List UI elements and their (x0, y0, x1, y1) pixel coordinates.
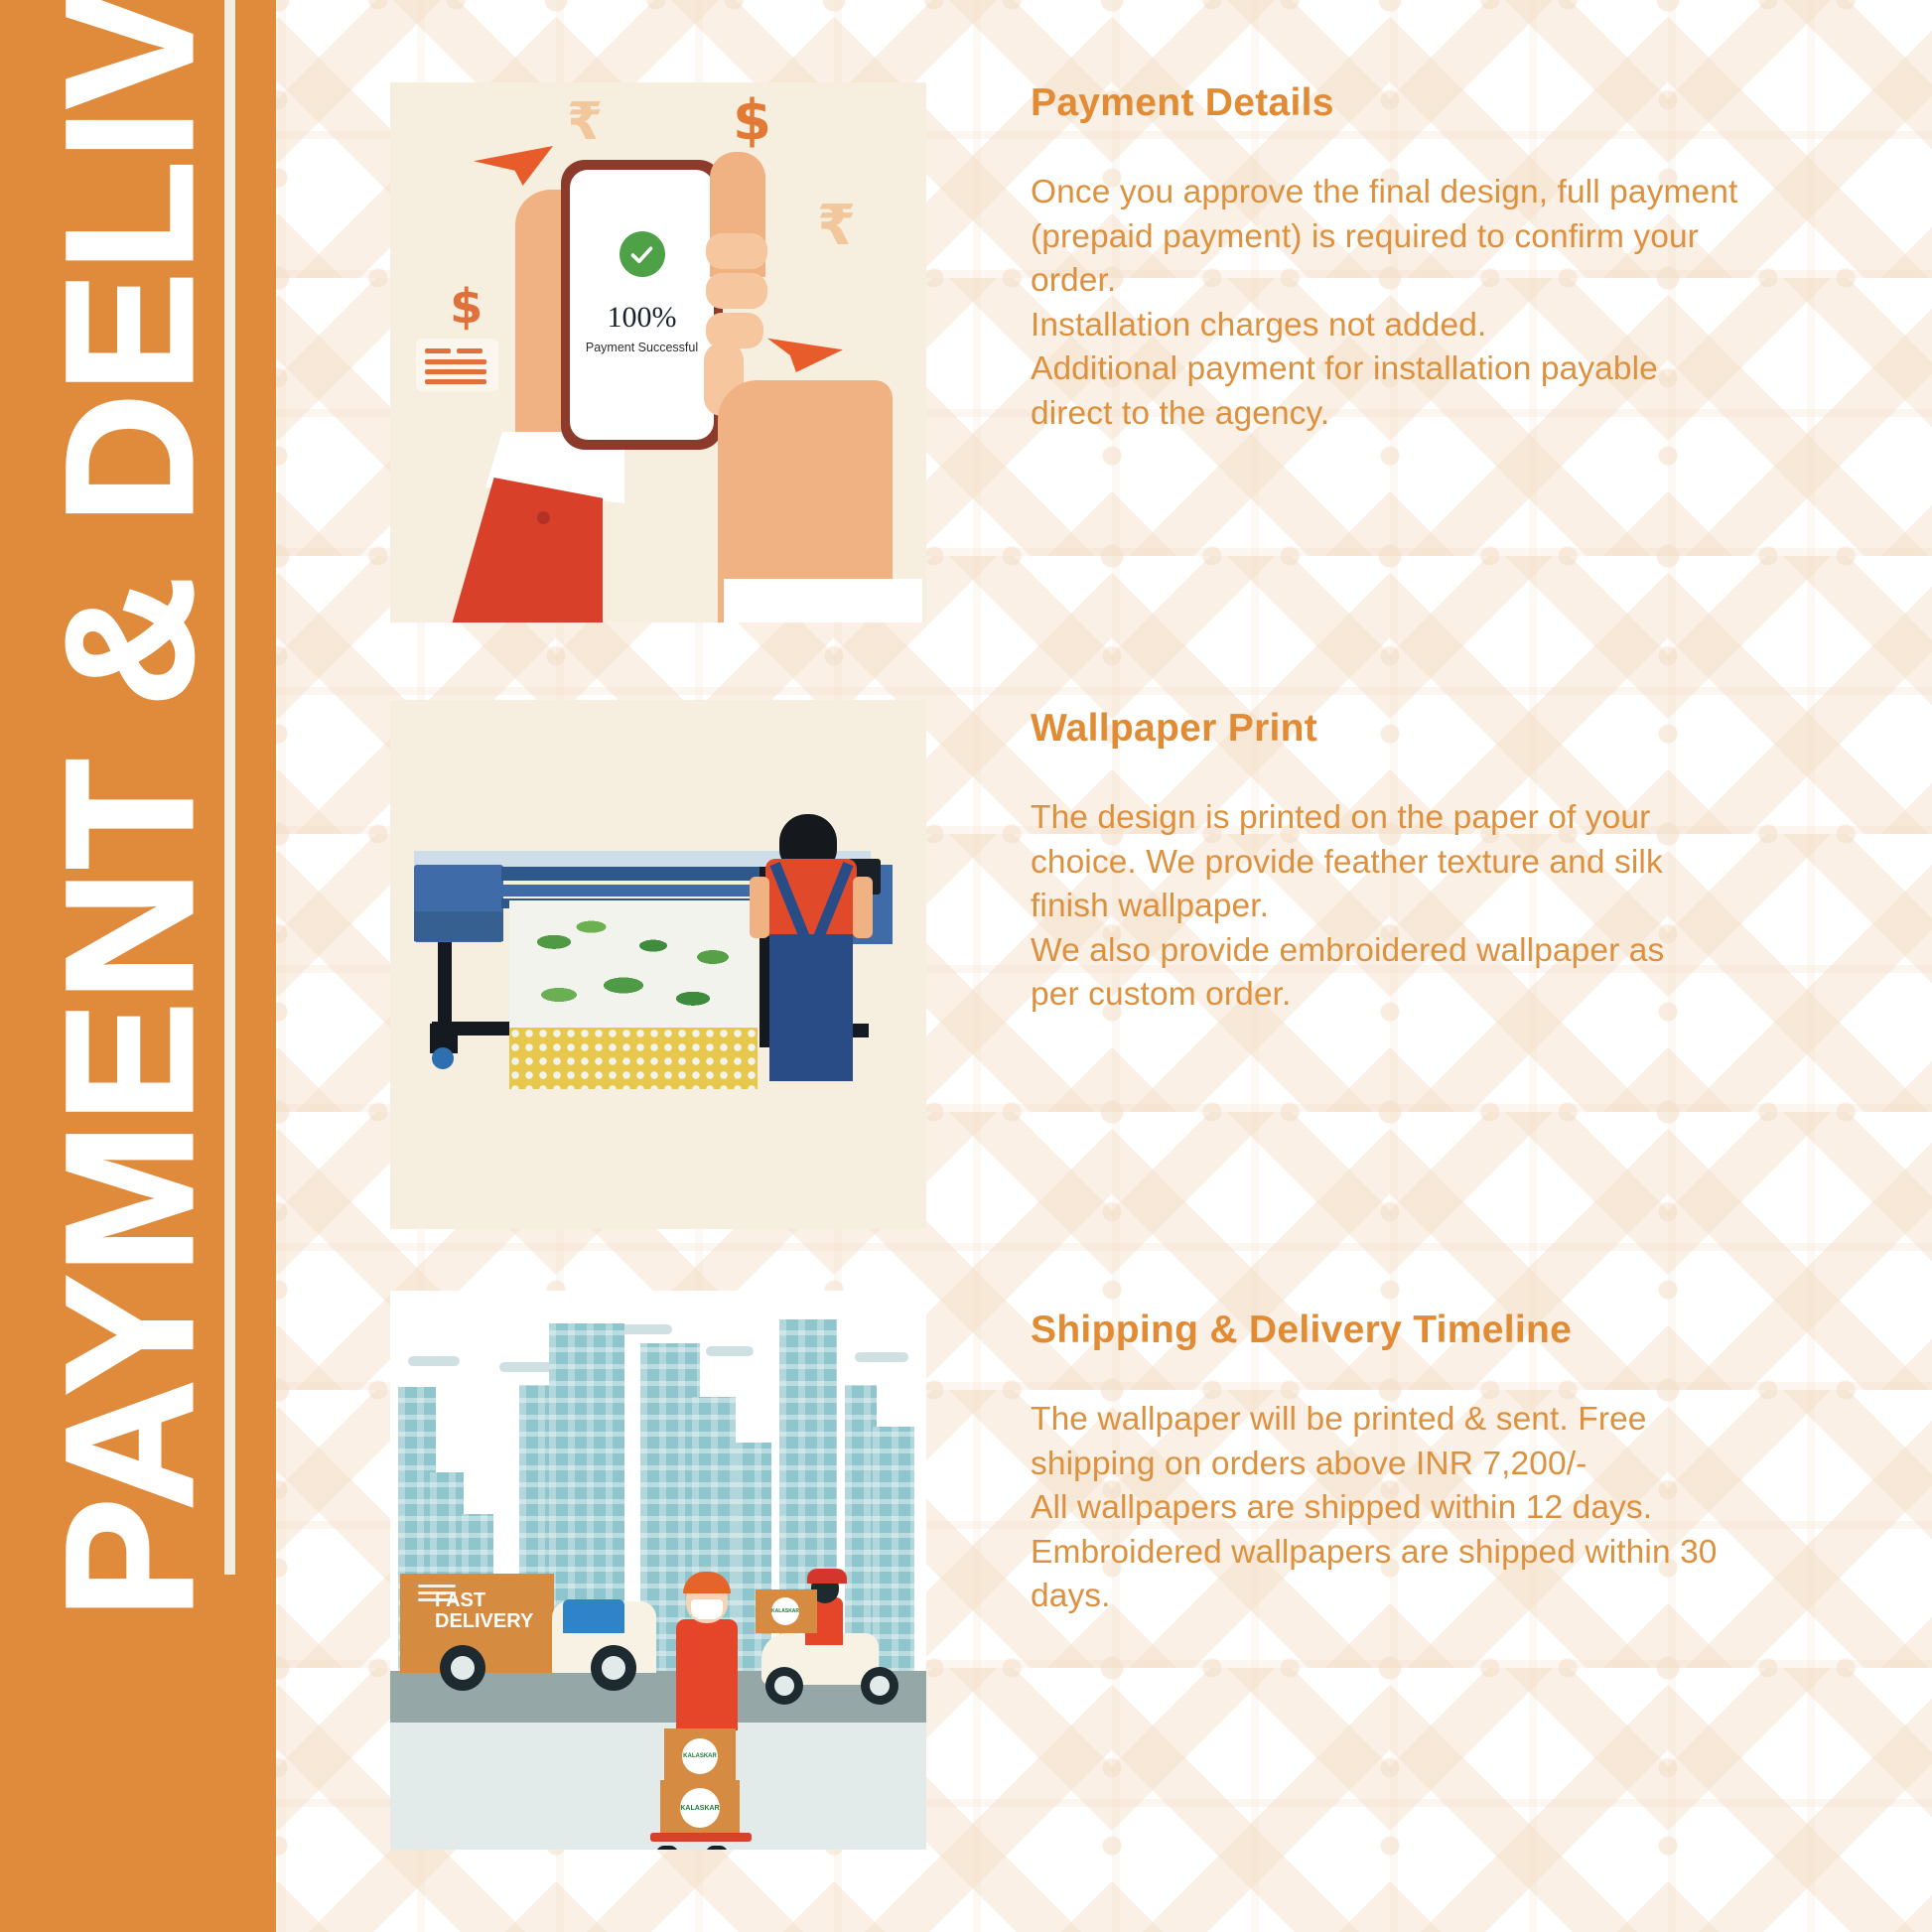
building (736, 1443, 771, 1673)
section-text-print: Wallpaper Print The design is printed on… (1031, 707, 1825, 1018)
illustration-card-delivery: FAST DELIVERY KALASKAR KALASKAR KALASKAR (390, 1291, 926, 1850)
sidebar-banner: PAYMENT & DELIVERY (0, 0, 276, 1932)
worker-right-arm (853, 877, 873, 938)
truck-label-line-1: FAST (435, 1590, 533, 1612)
body-line: direct to the agency. (1031, 392, 1825, 437)
body-line: Additional payment for installation paya… (1031, 347, 1825, 392)
porter-shoe (706, 1846, 728, 1850)
paper-plane-icon (767, 335, 843, 372)
body-line: days. (1031, 1575, 1825, 1619)
body-line: order. (1031, 259, 1825, 304)
payment-status-text: Payment Successful (586, 341, 698, 354)
brand-logo: KALASKAR (771, 1597, 799, 1625)
cuff-button (537, 511, 550, 524)
body-line: Once you approve the final design, full … (1031, 171, 1825, 215)
body-line: We also provide embroidered wallpaper as (1031, 929, 1825, 974)
scooter-rider-cap (807, 1569, 847, 1584)
section-body: The wallpaper will be printed & sent. Fr… (1031, 1398, 1825, 1619)
body-line: The wallpaper will be printed & sent. Fr… (1031, 1398, 1825, 1443)
building (873, 1427, 914, 1673)
scooter-wheel (765, 1667, 803, 1705)
paper-plane-icon (474, 146, 553, 186)
body-line: All wallpapers are shipped within 12 day… (1031, 1486, 1825, 1531)
porter-shoe (656, 1846, 678, 1850)
truck-window (563, 1599, 624, 1633)
page-title: PAYMENT & DELIVERY (30, 50, 228, 1678)
body-line: (prepaid payment) is required to confirm… (1031, 215, 1825, 260)
red-sleeve (452, 478, 603, 622)
success-check-icon (620, 231, 665, 277)
brand-logo: KALASKAR (682, 1738, 718, 1774)
scooter-parcel-box: KALASKAR (756, 1589, 817, 1633)
truck-label-line-2: DELIVERY (435, 1611, 533, 1633)
cloud-icon (617, 1324, 672, 1334)
finger (706, 233, 767, 269)
printer-caster (432, 1047, 454, 1069)
section-title: Shipping & Delivery Timeline (1031, 1309, 1825, 1352)
worker-left-arm (750, 877, 769, 938)
cloud-icon (855, 1352, 908, 1362)
chat-bubble-icon (416, 339, 498, 391)
body-line: per custom order. (1031, 973, 1825, 1018)
section-title: Payment Details (1031, 81, 1825, 125)
truck-wheel (591, 1645, 636, 1691)
illustration-delivery-city: FAST DELIVERY KALASKAR KALASKAR KALASKAR (390, 1291, 926, 1850)
truck-label: FAST DELIVERY (435, 1590, 533, 1633)
body-line: shipping on orders above INR 7,200/- (1031, 1443, 1825, 1487)
section-body: The design is printed on the paper of yo… (1031, 796, 1825, 1018)
cloud-icon (408, 1356, 460, 1366)
parcel-box-bottom: KALASKAR (660, 1780, 740, 1834)
section-title: Wallpaper Print (1031, 707, 1825, 751)
section-text-shipping: Shipping & Delivery Timeline The wallpap… (1031, 1309, 1825, 1619)
porter-face-mask (691, 1599, 723, 1619)
worker-trousers (769, 934, 853, 1081)
cloud-icon (706, 1346, 754, 1356)
phone-screen: 100% Payment Successful (570, 170, 714, 440)
rupee-symbol-icon: ₹ (567, 92, 603, 152)
ground (390, 1723, 926, 1850)
payment-percent: 100% (608, 301, 677, 335)
section-text-payment: Payment Details Once you approve the fin… (1031, 81, 1825, 436)
parcel-box-top: KALASKAR (664, 1728, 736, 1784)
body-line: Embroidered wallpapers are shipped withi… (1031, 1531, 1825, 1576)
section-body: Once you approve the final design, full … (1031, 171, 1825, 436)
dollar-symbol-icon: $ (450, 279, 483, 335)
trolley-plate (650, 1833, 752, 1842)
porter-body (676, 1619, 738, 1730)
illustration-printer (390, 700, 926, 1229)
printer-bar (501, 867, 761, 881)
body-line: Installation charges not added. (1031, 304, 1825, 348)
brand-logo: KALASKAR (680, 1788, 720, 1828)
illustration-hand-phone: ₹ $ ₹ $ 100% Payment Successful (390, 82, 926, 622)
body-line: The design is printed on the paper of yo… (1031, 796, 1825, 841)
illustration-card-printer (390, 700, 926, 1229)
finger (706, 273, 767, 309)
printer-bar (501, 885, 761, 897)
printer-left-panel (414, 911, 503, 941)
printed-wallpaper-pattern-band (509, 1028, 758, 1089)
scooter-wheel (861, 1667, 898, 1705)
shirt-cuff (724, 579, 922, 622)
illustration-card-payment: ₹ $ ₹ $ 100% Payment Successful (390, 82, 926, 622)
truck-wheel (440, 1645, 485, 1691)
dollar-symbol-icon: $ (733, 88, 771, 153)
body-line: choice. We provide feather texture and s… (1031, 841, 1825, 886)
rupee-symbol-icon: ₹ (817, 194, 856, 258)
body-line: finish wallpaper. (1031, 885, 1825, 929)
